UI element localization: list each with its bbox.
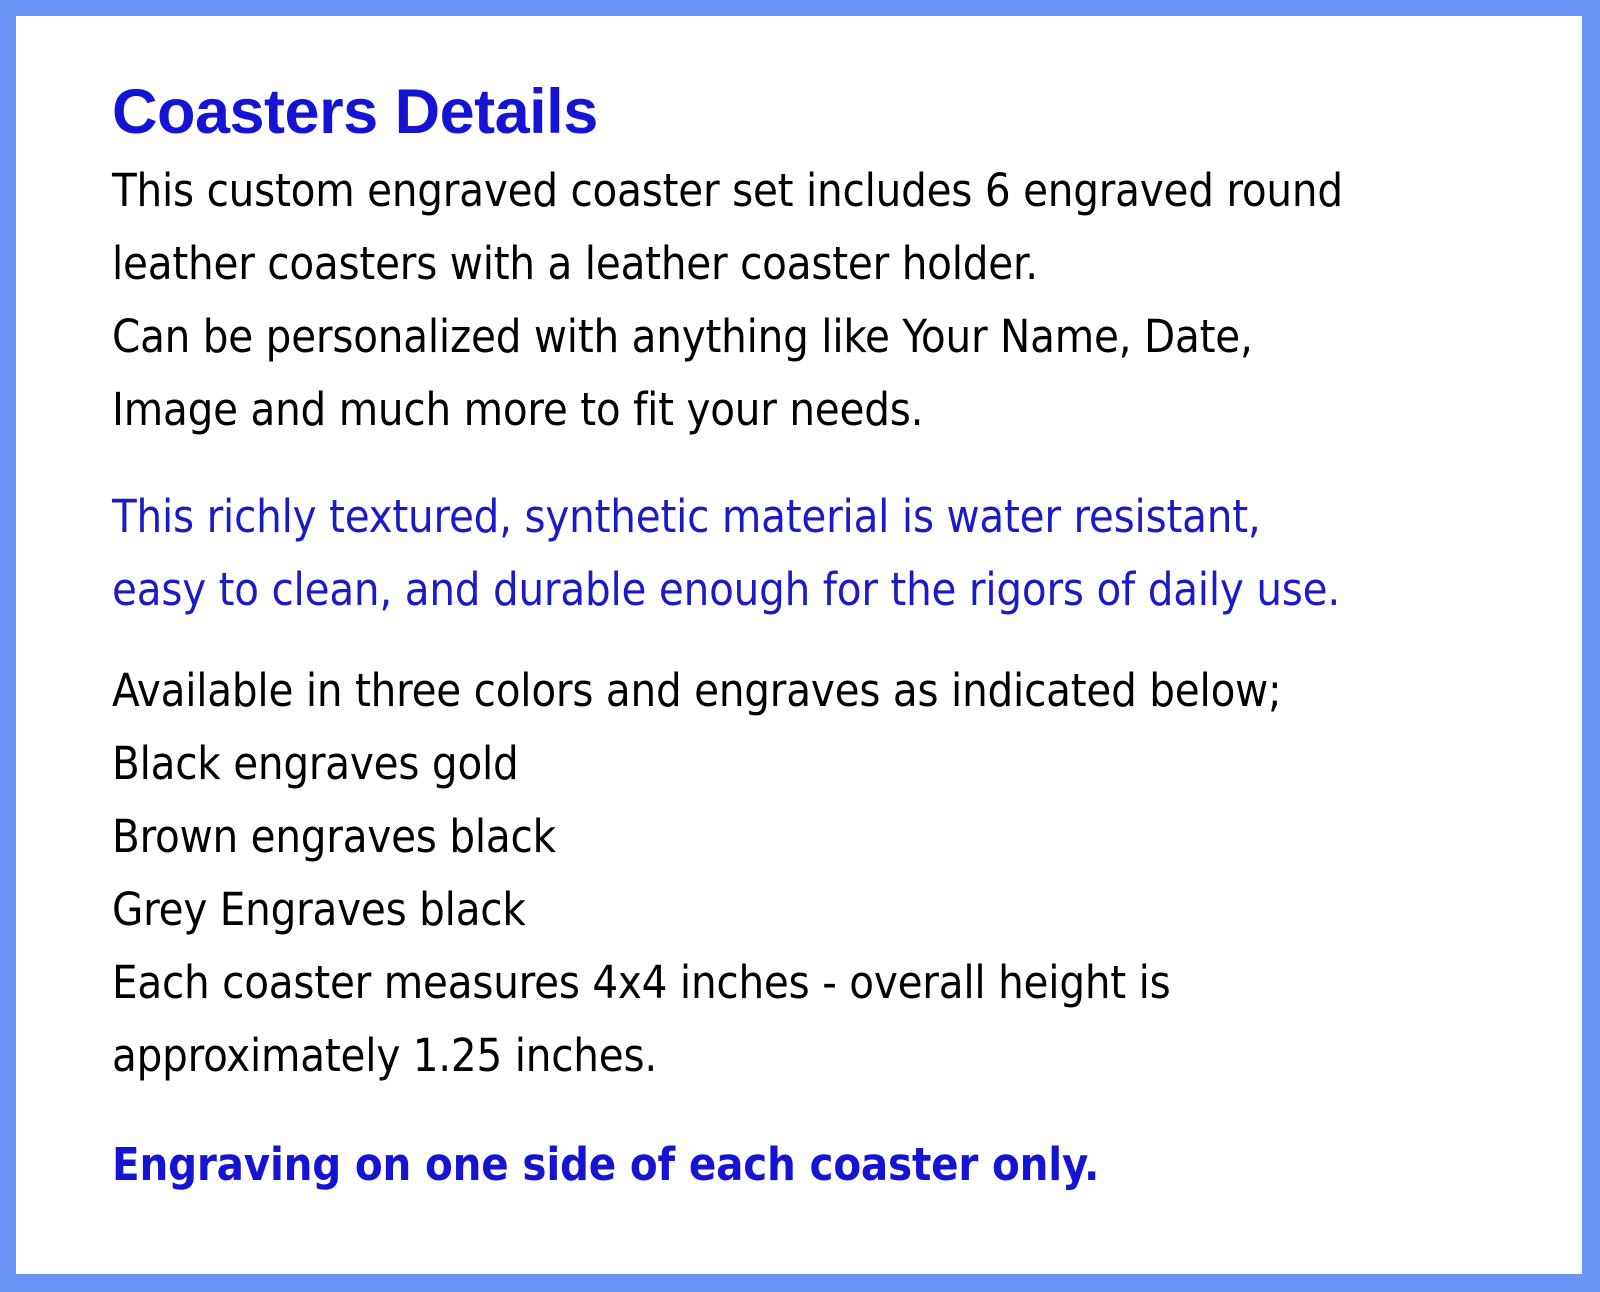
text-line: Brown engraves black — [112, 800, 1507, 873]
text-line: Can be personalized with anything like Y… — [112, 300, 1507, 373]
text-line: Engraving on one side of each coaster on… — [112, 1128, 1507, 1201]
text-line: This richly textured, synthetic material… — [112, 480, 1507, 553]
text-line: approximately 1.25 inches. — [112, 1019, 1507, 1092]
text-line: Image and much more to fit your needs. — [112, 373, 1507, 446]
text-line: easy to clean, and durable enough for th… — [112, 553, 1507, 626]
text-line: Each coaster measures 4x4 inches - overa… — [112, 946, 1507, 1019]
paragraph-engraving-note: Engraving on one side of each coaster on… — [112, 1128, 1507, 1201]
page-title: Coasters Details — [112, 78, 1542, 146]
paragraph-material: This richly textured, synthetic material… — [112, 480, 1507, 626]
card-content-area: Coasters Details This custom engraved co… — [16, 16, 1582, 1274]
text-line: This custom engraved coaster set include… — [112, 154, 1507, 227]
text-line: Available in three colors and engraves a… — [112, 654, 1507, 727]
text-line: leather coasters with a leather coaster … — [112, 227, 1507, 300]
product-details-card: Coasters Details This custom engraved co… — [0, 0, 1600, 1292]
paragraph-colors: Available in three colors and engraves a… — [112, 654, 1507, 1092]
text-line: Grey Engraves black — [112, 873, 1507, 946]
paragraph-intro: This custom engraved coaster set include… — [112, 154, 1507, 446]
text-line: Black engraves gold — [112, 727, 1507, 800]
